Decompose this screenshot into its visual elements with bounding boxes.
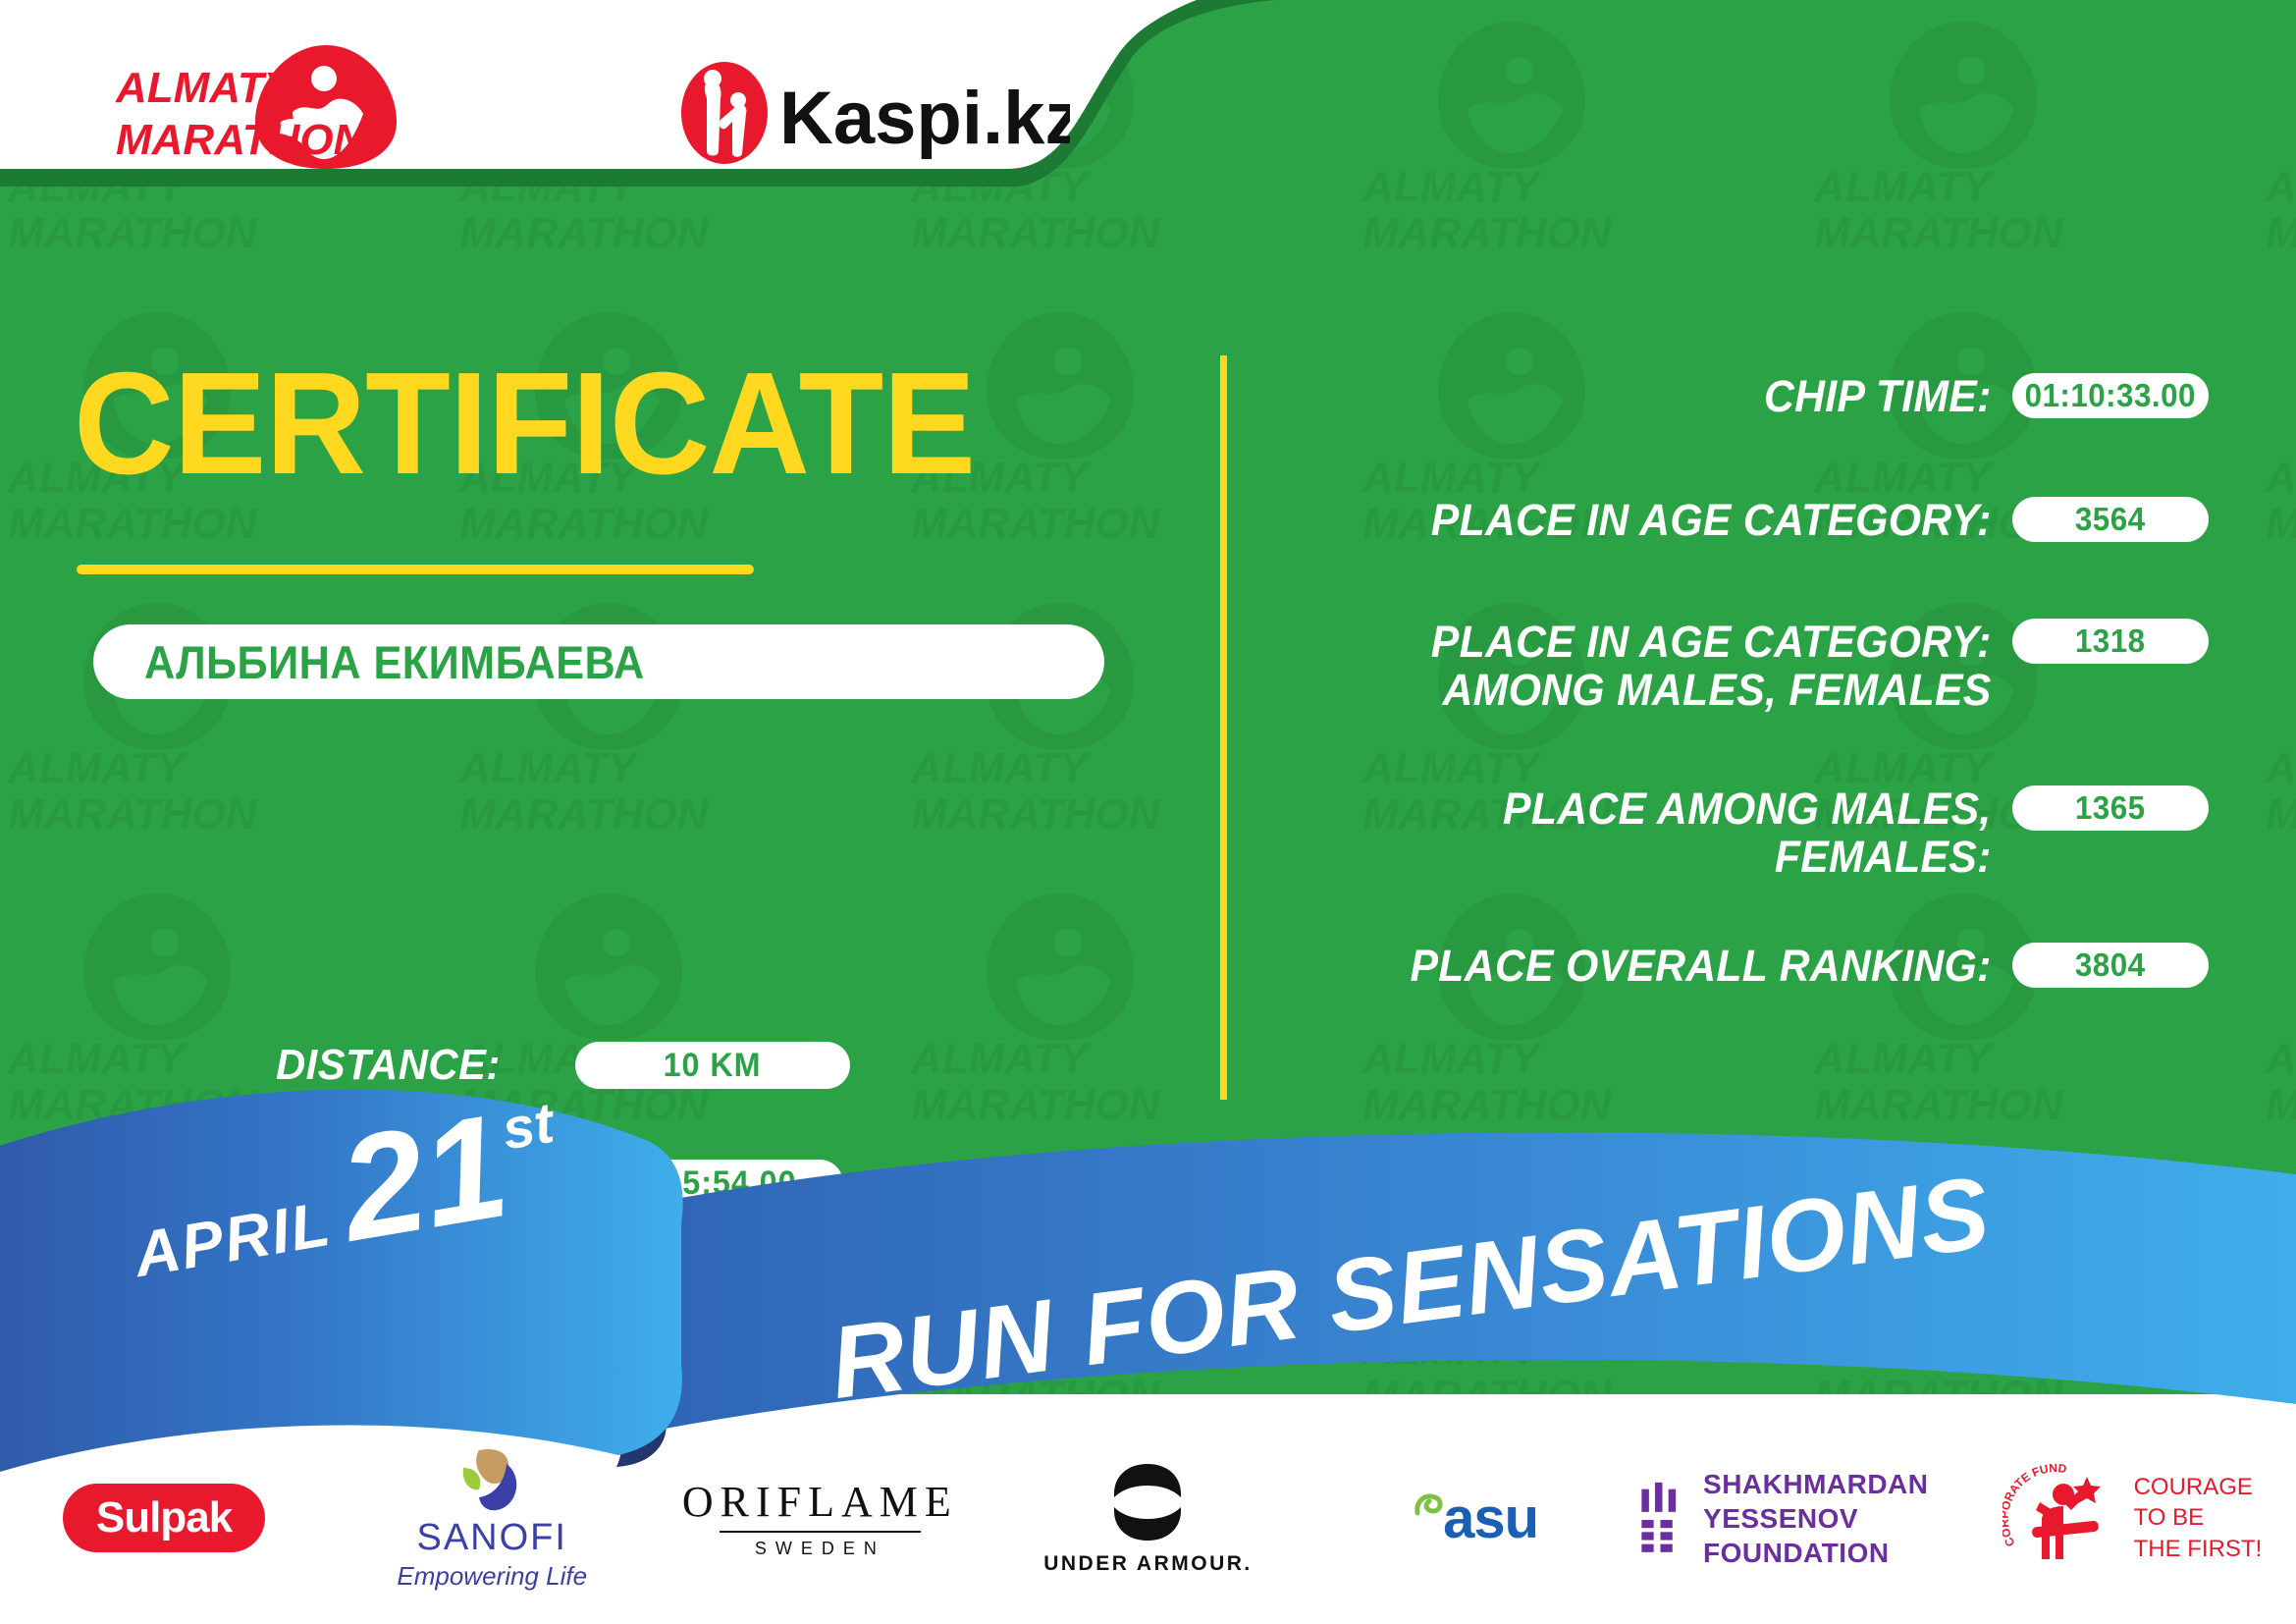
distance-row: DISTANCE: 10 KM [270,1041,850,1090]
stat-label: PLACE OVERALL RANKING: [1304,943,2003,991]
event-day: 21 [331,1091,516,1263]
sponsor-courage-to-be-the-first: CORPORATE FUND COURAGE TO BE THE FIRST! [1968,1439,2296,1597]
stat-value-pill: 3804 [2012,943,2209,988]
stat-row-place-age-category: PLACE IN AGE CATEGORY: 3564 [1266,497,2209,545]
stat-row-place-overall: PLACE OVERALL RANKING: 3804 [1266,943,2209,991]
header-bar: ALMATY MARATHON Kaspi.kz [0,0,1222,257]
stat-row-place-among-gender: PLACE AMONG MALES, FEMALES: 1365 [1266,785,2209,881]
almaty-marathon-logo: ALMATY MARATHON [116,41,351,164]
oriflame-tagline: SWEDEN [755,1539,885,1559]
certificate-page: ALMATY MARATHON [0,0,2296,1624]
stat-row-place-age-category-gender: PLACE IN AGE CATEGORY: AMONG MALES, FEMA… [1266,619,2209,714]
stat-label: PLACE IN AGE CATEGORY: [1304,497,2003,545]
stat-value-pill: 1318 [2012,619,2209,664]
under-armour-wordmark: UNDER ARMOUR. [1043,1552,1253,1576]
sponsor-oriflame: ORIFLAME SWEDEN [656,1439,984,1597]
almaty-logo-line2: MARATHON [116,116,366,164]
yessenov-wordmark-line1: SHAKHMARDAN YESSENOV [1703,1467,1968,1536]
participant-name: АЛЬБИНА ЕКИМБАЕВА [144,635,645,689]
almaty-logo-line1: ALMATY [116,64,296,112]
sponsors-bar: Sulpak SANOFI Empowering Life ORIFLAME S… [0,1412,2296,1624]
sulpak-logo: Sulpak [63,1484,265,1552]
sanofi-wordmark: SANOFI [416,1517,566,1559]
stat-value-pill: 3564 [2012,497,2209,542]
stat-value: 1365 [2075,789,2146,827]
sponsor-asu: asu [1312,1439,1640,1597]
oriflame-divider [720,1531,921,1533]
stat-value-pill: 01:10:33.00 [2012,373,2209,418]
stat-value: 1318 [2075,623,2146,660]
sponsor-sanofi: SANOFI Empowering Life [328,1439,656,1597]
distance-label: DISTANCE: [276,1041,501,1090]
courage-line1: COURAGE [2134,1472,2263,1502]
courage-mark-icon: CORPORATE FUND [2002,1459,2120,1577]
certificate-left-panel: CERTIFICATE АЛЬБИНА ЕКИМБАЕВА DISTANCE: … [0,245,1207,1129]
yessenov-mark-icon [1640,1464,1682,1572]
stat-label: CHIP TIME: [1304,373,2003,421]
sanofi-mark-icon [450,1444,534,1517]
distance-value: 10 KM [664,1047,762,1085]
kaspi-logo: Kaspi.kz [677,59,1050,157]
sanofi-tagline: Empowering Life [397,1561,587,1592]
results-stats-panel: CHIP TIME: 01:10:33.00 PLACE IN AGE CATE… [1266,373,2209,1080]
courage-line3: THE FIRST! [2134,1534,2263,1564]
participant-name-field: АЛЬБИНА ЕКИМБАЕВА [93,624,1104,699]
finish-time-value: 01:15:54.00 [615,1164,797,1203]
stat-value: 3564 [2075,501,2146,538]
kaspi-logo-text: Kaspi.kz [779,77,1070,160]
sponsor-sulpak: Sulpak [0,1439,328,1597]
yessenov-wordmark-line2: FOUNDATION [1703,1536,1968,1570]
asu-swirl-icon [1414,1491,1443,1525]
distance-value-pill: 10 KM [575,1042,850,1089]
stat-value-pill: 1365 [2012,785,2209,831]
stat-value: 01:10:33.00 [2025,377,2196,414]
courage-line2: TO BE [2134,1502,2263,1533]
vertical-divider [1220,355,1227,1100]
under-armour-mark-icon [1079,1460,1216,1544]
sponsor-yessenov-foundation: SHAKHMARDAN YESSENOV FOUNDATION [1640,1439,1968,1597]
stat-row-chip-time: CHIP TIME: 01:10:33.00 [1266,373,2209,421]
sponsor-under-armour: UNDER ARMOUR. [984,1439,1311,1597]
page-title: CERTIFICATE [74,352,975,497]
stat-label: PLACE AMONG MALES, FEMALES: [1304,785,2003,881]
oriflame-wordmark: ORIFLAME [682,1477,958,1527]
asu-wordmark: asu [1443,1486,1538,1551]
stat-value: 3804 [2075,947,2146,984]
event-day-ordinal: st [498,1090,559,1164]
finish-time-value-pill: 01:15:54.00 [568,1160,843,1207]
stat-label: PLACE IN AGE CATEGORY: AMONG MALES, FEMA… [1304,619,2003,714]
title-underline [77,565,754,574]
